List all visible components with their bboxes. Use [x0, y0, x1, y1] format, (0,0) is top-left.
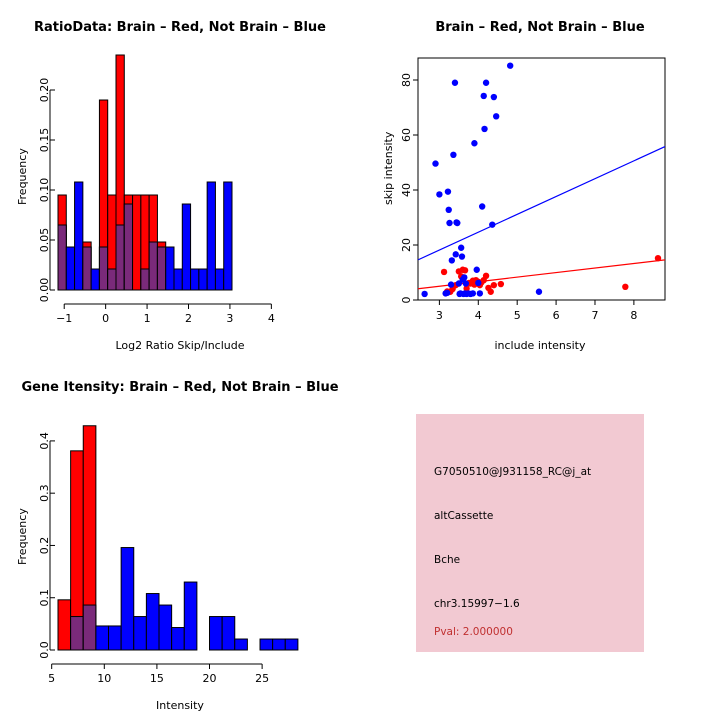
hist-bar-overlap	[71, 617, 84, 650]
scatter-point	[479, 203, 485, 209]
y-tick-label: 0.15	[38, 128, 51, 153]
y-tick-label: 40	[400, 183, 413, 197]
hist-bar-notbrain	[273, 639, 286, 650]
scatter-point	[474, 267, 480, 273]
hist-bar-notbrain	[96, 626, 109, 650]
scatter-point	[432, 160, 438, 166]
x-tick-label: 10	[97, 672, 111, 685]
scatter-point	[461, 274, 467, 280]
hist-bar-notbrain	[91, 269, 99, 290]
scatter-point	[483, 273, 489, 279]
hist-bar-notbrain	[191, 269, 199, 290]
figure-canvas: RatioData: Brain – Red, Not Brain – Blue…	[0, 0, 720, 720]
scatter-point	[458, 245, 464, 251]
hist-bar-notbrain	[224, 182, 232, 290]
hist-bar-notbrain	[235, 639, 248, 650]
panel-gene-histogram: Gene Itensity: Brain – Red, Not Brain – …	[0, 360, 360, 720]
hist-bar-overlap	[116, 225, 124, 290]
scatter-point	[475, 280, 481, 286]
hist-bar-overlap	[58, 225, 66, 290]
scatter-point	[471, 140, 477, 146]
hist-bar-brain	[58, 600, 71, 650]
hist-bar-overlap	[149, 242, 157, 290]
hist-bar-notbrain	[222, 617, 235, 650]
regression-line	[418, 147, 665, 260]
scatter-point	[536, 289, 542, 295]
gene-histogram-plot: 0.00.10.20.30.4510152025	[0, 360, 360, 720]
scatter-point	[446, 207, 452, 213]
scatter-point	[491, 94, 497, 100]
info-event-type: altCassette	[434, 510, 493, 522]
y-tick-label: 0.2	[38, 537, 51, 555]
scatter-point	[452, 80, 458, 86]
scatter-point	[483, 80, 489, 86]
scatter-point	[421, 291, 427, 297]
y-tick-label: 0.00	[38, 278, 51, 303]
hist-bar-notbrain	[172, 628, 185, 650]
scatter-point	[436, 191, 442, 197]
scatter-point	[488, 289, 494, 295]
x-tick-label: 3	[436, 309, 443, 322]
x-tick-label: 2	[185, 312, 192, 325]
hist-bar-brain	[133, 195, 141, 290]
scatter-point	[441, 269, 447, 275]
y-tick-label: 0.0	[38, 641, 51, 659]
hist-bar-notbrain	[146, 594, 159, 650]
hist-bar-overlap	[108, 269, 116, 290]
y-tick-label: 80	[400, 73, 413, 87]
hist-bar-notbrain	[199, 269, 207, 290]
scatter-point	[481, 93, 487, 99]
gene-info-box: G7050510@J931158_RC@j_at altCassette Bch…	[416, 414, 644, 652]
hist-bar-notbrain	[182, 204, 190, 290]
info-gene-symbol: Bche	[434, 554, 460, 566]
hist-bar-notbrain	[285, 639, 298, 650]
hist-bar-notbrain	[109, 626, 122, 650]
scatter-plot: 020406080345678	[360, 0, 720, 360]
scatter-point	[462, 267, 468, 273]
hist-bar-overlap	[141, 269, 149, 290]
x-tick-label: 3	[226, 312, 233, 325]
hist-bar-overlap	[157, 247, 165, 290]
x-tick-label: 0	[102, 312, 109, 325]
x-tick-label: 5	[514, 309, 521, 322]
scatter-point	[448, 281, 454, 287]
panel-ratio-histogram: RatioData: Brain – Red, Not Brain – Blue…	[0, 0, 360, 360]
x-tick-label: 4	[268, 312, 275, 325]
scatter-point	[491, 282, 497, 288]
hist-bar-notbrain	[75, 182, 83, 290]
hist-bar-notbrain	[121, 548, 134, 650]
scatter-point	[622, 284, 628, 290]
hist-bar-notbrain	[134, 617, 147, 650]
scatter-point	[655, 255, 661, 261]
scatter-point	[454, 220, 460, 226]
ratio-histogram-plot: 0.000.050.100.150.20−101234	[0, 0, 360, 360]
hist-bar-notbrain	[66, 247, 74, 290]
x-tick-label: 4	[475, 309, 482, 322]
scatter-point	[493, 113, 499, 119]
hist-bar-notbrain	[174, 269, 182, 290]
hist-bar-overlap	[83, 605, 96, 650]
x-tick-label: 1	[144, 312, 151, 325]
hist-bar-notbrain	[260, 639, 273, 650]
scatter-point	[489, 221, 495, 227]
info-locus: chr3.15997−1.6	[434, 598, 520, 610]
info-pval: Pval: 2.000000	[434, 626, 513, 638]
hist-bar-notbrain	[207, 182, 215, 290]
scatter-point	[449, 257, 455, 263]
scatter-point	[507, 62, 513, 68]
x-tick-label: 8	[630, 309, 637, 322]
scatter-point	[477, 290, 483, 296]
y-tick-label: 0.3	[38, 484, 51, 502]
panel-scatter: Brain – Red, Not Brain – Blue skip inten…	[360, 0, 720, 360]
scatter-point	[446, 220, 452, 226]
hist-bar-notbrain	[215, 269, 223, 290]
hist-bar-overlap	[99, 247, 107, 290]
hist-bar-notbrain	[184, 582, 197, 650]
scatter-point	[453, 251, 459, 257]
y-tick-label: 0	[400, 297, 413, 304]
y-tick-label: 0.10	[38, 178, 51, 203]
x-tick-label: 5	[48, 672, 55, 685]
x-tick-label: 20	[203, 672, 217, 685]
hist-bar-overlap	[83, 247, 91, 290]
panel-info: G7050510@J931158_RC@j_at altCassette Bch…	[360, 360, 720, 720]
x-tick-label: 25	[255, 672, 269, 685]
info-probe-id: G7050510@J931158_RC@j_at	[434, 466, 591, 478]
hist-bar-overlap	[124, 204, 132, 290]
scatter-point	[498, 281, 504, 287]
scatter-point	[450, 152, 456, 158]
x-tick-label: 7	[591, 309, 598, 322]
hist-bar-notbrain	[210, 617, 223, 650]
y-tick-label: 0.20	[38, 78, 51, 103]
scatter-point	[459, 253, 465, 259]
y-tick-label: 0.4	[38, 432, 51, 450]
scatter-point	[470, 290, 476, 296]
x-tick-label: −1	[56, 312, 72, 325]
scatter-point	[463, 280, 469, 286]
hist-bar-notbrain	[166, 247, 174, 290]
y-tick-label: 0.1	[38, 589, 51, 607]
scatter-point	[444, 290, 450, 296]
y-tick-label: 20	[400, 238, 413, 252]
y-tick-label: 60	[400, 128, 413, 142]
scatter-point	[481, 126, 487, 132]
hist-bar-notbrain	[159, 605, 172, 650]
x-tick-label: 15	[150, 672, 164, 685]
y-tick-label: 0.05	[38, 228, 51, 253]
x-tick-label: 6	[553, 309, 560, 322]
scatter-point	[445, 188, 451, 194]
